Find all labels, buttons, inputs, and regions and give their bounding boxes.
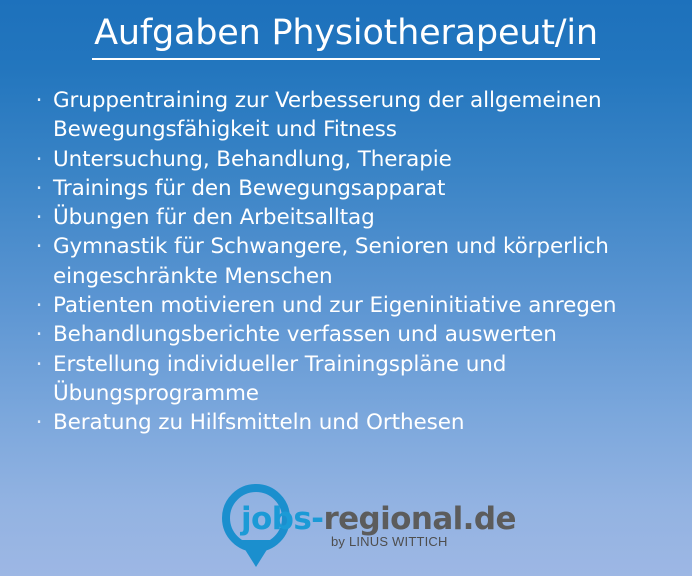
bullet-dot-icon: ·: [32, 350, 46, 379]
bullet-dot-icon: ·: [32, 408, 46, 437]
brand-logo: jobs-regional.de by LINUS WITTICH: [217, 482, 487, 570]
logo-tagline: by LINUS WITTICH: [331, 534, 448, 550]
list-item-label: Trainings für den Bewegungsapparat: [53, 174, 676, 203]
list-item: · Beratung zu Hilfsmitteln und Orthesen: [28, 408, 676, 437]
list-item-label: Untersuchung, Behandlung, Therapie: [53, 145, 676, 174]
list-item: · Übungen für den Arbeitsalltag: [28, 203, 676, 232]
list-item-label: Erstellung individueller Trainingspläne …: [53, 350, 676, 409]
list-item-label: Beratung zu Hilfsmitteln und Orthesen: [53, 408, 676, 437]
list-item: · Erstellung individueller Trainingsplän…: [28, 350, 676, 409]
list-item: · Gymnastik für Schwangere, Senioren und…: [28, 232, 676, 291]
bullet-dot-icon: ·: [32, 291, 46, 320]
slide-canvas: Aufgaben Physiotherapeut/in · Gruppentra…: [0, 0, 692, 576]
page-title-container: Aufgaben Physiotherapeut/in: [0, 12, 692, 60]
bullet-dot-icon: ·: [32, 203, 46, 232]
page-title: Aufgaben Physiotherapeut/in: [92, 12, 600, 60]
logo-wordmark-gray: regional.de: [323, 501, 515, 537]
list-item: · Patienten motivieren und zur Eigeninit…: [28, 291, 676, 320]
list-item-label: Übungen für den Arbeitsalltag: [53, 203, 676, 232]
bullet-dot-icon: ·: [32, 86, 46, 115]
list-item-label: Gymnastik für Schwangere, Senioren und k…: [53, 232, 676, 291]
list-item-label: Gruppentraining zur Verbesserung der all…: [53, 86, 676, 145]
logo-wordmark: jobs-regional.de: [241, 502, 516, 536]
list-item: · Untersuchung, Behandlung, Therapie: [28, 145, 676, 174]
list-item: · Gruppentraining zur Verbesserung der a…: [28, 86, 676, 145]
tasks-list: · Gruppentraining zur Verbesserung der a…: [28, 86, 676, 438]
logo-wordmark-blue: jobs-: [241, 501, 323, 537]
bullet-dot-icon: ·: [32, 174, 46, 203]
list-item: · Trainings für den Bewegungsapparat: [28, 174, 676, 203]
list-item-label: Patienten motivieren und zur Eigeninitia…: [53, 291, 676, 320]
bullet-dot-icon: ·: [32, 320, 46, 349]
list-item-label: Behandlungsberichte verfassen und auswer…: [53, 320, 676, 349]
bullet-dot-icon: ·: [32, 232, 46, 261]
bullet-dot-icon: ·: [32, 145, 46, 174]
list-item: · Behandlungsberichte verfassen und ausw…: [28, 320, 676, 349]
